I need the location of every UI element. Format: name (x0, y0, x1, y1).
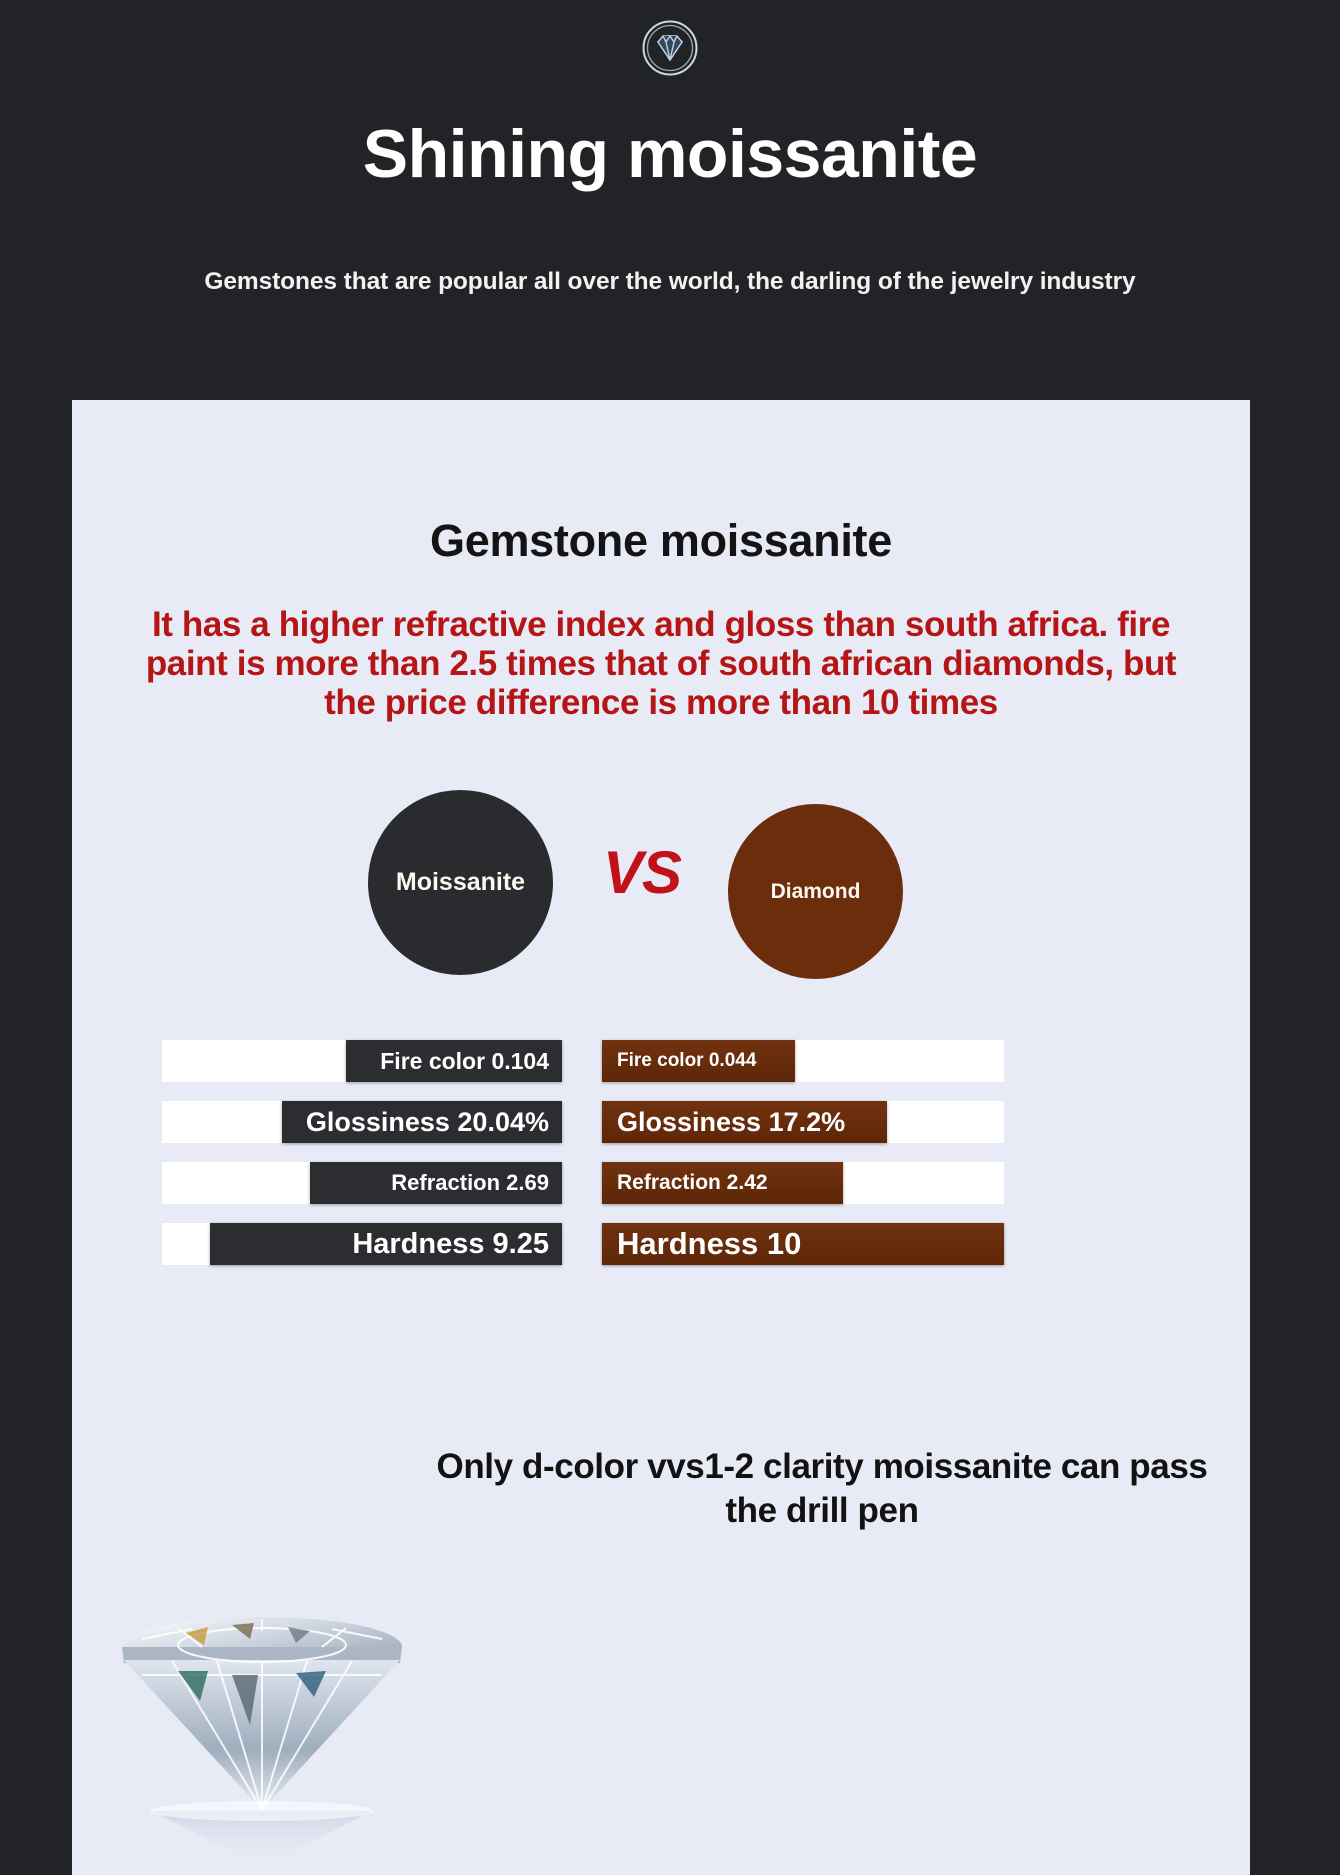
bar-hardness: Hardness 9.25 (210, 1223, 562, 1265)
bar-hardness: Hardness 10 (602, 1223, 1004, 1265)
infographic-page: Shining moissanite Gemstones that are po… (0, 0, 1340, 1875)
bar-track: Refraction 2.42 (602, 1162, 1004, 1204)
bar-value-label: Glossiness 20.04% (306, 1107, 549, 1138)
bar-value-label: Hardness 10 (617, 1226, 801, 1262)
bar-track: Fire color 0.104 (162, 1040, 562, 1082)
bar-refraction: Refraction 2.69 (310, 1162, 562, 1204)
bar-glossiness: Glossiness 20.04% (282, 1101, 562, 1143)
legend-bubble-diamond: Diamond (728, 804, 903, 979)
bar-value-label: Hardness 9.25 (352, 1228, 549, 1261)
page-subtitle: Gemstones that are popular all over the … (0, 268, 1340, 296)
bar-track: Refraction 2.69 (162, 1162, 562, 1204)
bar-track: Glossiness 17.2% (602, 1101, 1004, 1143)
bar-value-label: Refraction 2.42 (617, 1171, 768, 1195)
brilliant-cut-diamond-photo (82, 1575, 482, 1875)
bar-refraction: Refraction 2.42 (602, 1162, 843, 1204)
versus-label: VS (582, 838, 702, 907)
bar-fire-color: Fire color 0.104 (346, 1040, 562, 1082)
card-title: Gemstone moissanite (72, 515, 1250, 567)
versus-row: Moissanite VS Diamond (72, 790, 1250, 990)
bar-series-diamond: Fire color 0.044Glossiness 17.2%Refracti… (602, 1040, 1004, 1284)
diamond-in-circle-icon (634, 12, 706, 84)
bar-value-label: Refraction 2.69 (391, 1170, 549, 1196)
bar-track: Hardness 10 (602, 1223, 1004, 1265)
legend-bubble-moissanite-label: Moissanite (396, 868, 525, 897)
bar-value-label: Fire color 0.044 (617, 1050, 756, 1072)
card-caption: Only d-color vvs1-2 clarity moissanite c… (427, 1445, 1217, 1533)
legend-bubble-moissanite: Moissanite (368, 790, 553, 975)
bar-value-label: Glossiness 17.2% (617, 1107, 845, 1138)
comparison-bar-chart: Fire color 0.104Glossiness 20.04%Refract… (72, 1040, 1250, 1310)
comparison-card: Gemstone moissanite It has a higher refr… (72, 400, 1250, 1875)
bar-fire-color: Fire color 0.044 (602, 1040, 795, 1082)
bar-track: Fire color 0.044 (602, 1040, 1004, 1082)
bar-glossiness: Glossiness 17.2% (602, 1101, 887, 1143)
bar-value-label: Fire color 0.104 (380, 1048, 549, 1075)
legend-bubble-diamond-label: Diamond (771, 880, 861, 904)
bar-track: Glossiness 20.04% (162, 1101, 562, 1143)
card-lead-text: It has a higher refractive index and glo… (124, 605, 1198, 723)
bar-track: Hardness 9.25 (162, 1223, 562, 1265)
bar-series-moissanite: Fire color 0.104Glossiness 20.04%Refract… (162, 1040, 562, 1284)
page-title: Shining moissanite (0, 120, 1340, 188)
